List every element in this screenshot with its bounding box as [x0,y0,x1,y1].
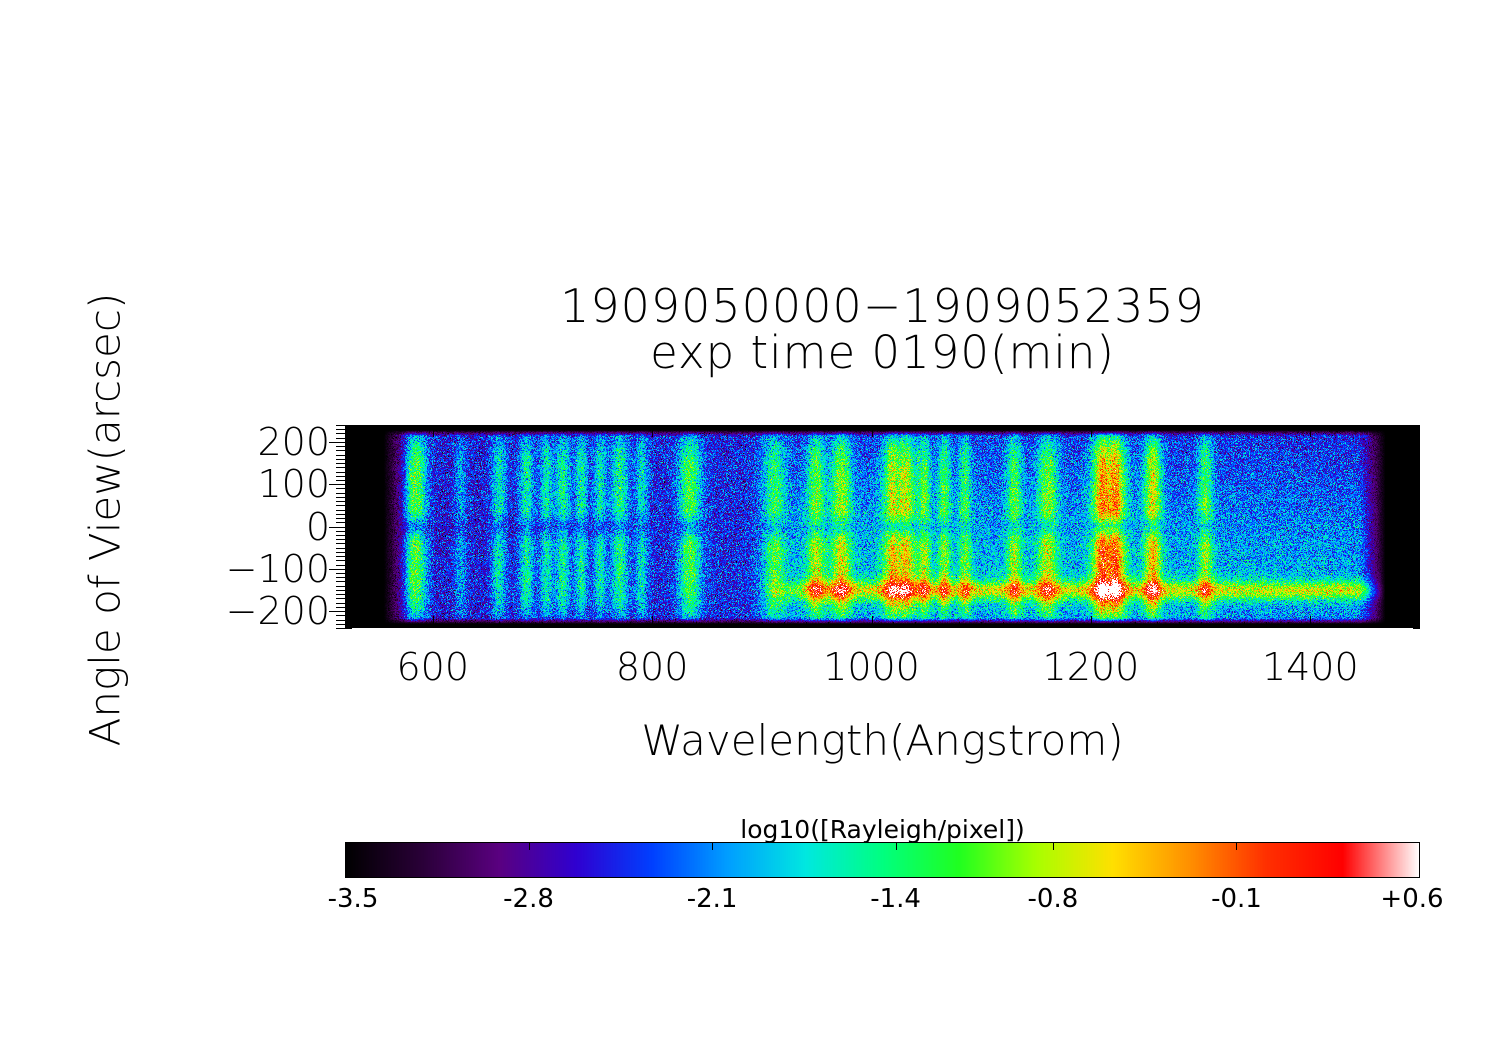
y-minor-tick-right [1413,501,1420,502]
y-minor-tick [345,514,352,515]
y-minor-tick-right [1413,590,1420,591]
y-minor-tick-right [1413,514,1420,515]
y-minor-tick [345,556,352,557]
x-tick-label: 800 [616,648,689,686]
x-axis-title: Wavelength(Angstrom) [345,716,1420,765]
x-minor-tick-top [564,425,565,431]
x-minor-tick-top [784,425,785,431]
y-outer-tick [336,556,345,557]
x-minor-tick [1025,622,1026,628]
y-outer-tick [336,552,345,553]
x-minor-tick [1244,622,1245,628]
y-outer-tick [336,598,345,599]
y-outer-tick [336,607,345,608]
y-minor-tick [345,598,352,599]
colorbar-gradient [345,842,1420,878]
x-minor-tick [1113,622,1114,628]
y-minor-tick [345,573,352,574]
x-major-tick [1310,616,1311,628]
x-axis-tick-labels: 600800100012001400 [345,648,1420,708]
colorbar-tick-label: +0.6 [1380,886,1443,912]
y-outer-tick [336,438,345,439]
y-minor-tick-right [1413,476,1420,477]
y-minor-tick [345,438,352,439]
x-minor-tick [608,622,609,628]
x-major-tick [1091,616,1092,628]
y-tick-label: −100 [226,550,330,588]
y-minor-tick [345,615,352,616]
y-minor-tick-right [1413,535,1420,536]
title-line-1: 1909050000−1909052359 [345,283,1420,330]
x-minor-tick [455,622,456,628]
y-outer-tick [336,501,345,502]
y-minor-tick [345,488,352,489]
y-major-tick [345,569,359,570]
colorbar [345,842,1420,878]
y-minor-tick [345,472,352,473]
x-minor-tick [806,622,807,628]
y-major-tick-right [1406,484,1420,485]
y-minor-tick-right [1413,467,1420,468]
y-minor-tick-right [1413,543,1420,544]
y-major-tick-right [1406,569,1420,570]
y-minor-tick-right [1413,628,1420,629]
y-outer-tick [336,548,345,549]
y-outer-tick [336,497,345,498]
y-major-tick-right [1406,527,1420,528]
spectrogram-image [345,425,1420,628]
y-minor-tick-right [1413,598,1420,599]
y-outer-tick [336,581,345,582]
y-outer-tick [336,615,345,616]
colorbar-tick [712,842,713,850]
x-tick-label: 1000 [823,648,920,686]
x-tick-label: 1400 [1262,648,1359,686]
x-minor-tick [740,622,741,628]
y-minor-tick-right [1413,463,1420,464]
x-minor-tick-top [1266,425,1267,431]
x-minor-tick [499,622,500,628]
y-minor-tick-right [1413,459,1420,460]
y-outer-tick [336,514,345,515]
y-minor-tick [345,620,352,621]
y-outer-tick [336,573,345,574]
y-outer-tick [336,450,345,451]
x-minor-tick [850,622,851,628]
y-minor-tick-right [1413,615,1420,616]
x-minor-tick-top [542,425,543,431]
y-minor-tick [345,535,352,536]
y-tick-label: 100 [257,465,330,503]
x-minor-tick [586,622,587,628]
y-major-tick [345,484,359,485]
y-minor-tick-right [1413,607,1420,608]
y-minor-tick [345,505,352,506]
x-minor-tick-top [718,425,719,431]
y-outer-tick [336,594,345,595]
colorbar-tick-label: -0.8 [1028,886,1079,912]
y-minor-tick-right [1413,455,1420,456]
x-major-tick [652,616,653,628]
y-tick-label: 200 [257,423,330,461]
y-outer-tick [336,560,345,561]
y-outer-tick [336,518,345,519]
y-outer-tick [336,543,345,544]
plot-title: 1909050000−1909052359 exp time 0190(min) [345,283,1420,376]
x-minor-tick-top [608,425,609,431]
colorbar-tick [896,842,897,850]
title-line-2: exp time 0190(min) [345,330,1420,376]
y-outer-tick [336,586,345,587]
x-minor-tick-top [1179,425,1180,431]
x-minor-tick-top [1047,425,1048,431]
y-minor-tick-right [1413,510,1420,511]
x-major-tick-top [1091,425,1092,437]
x-minor-tick [784,622,785,628]
x-minor-tick [1201,622,1202,628]
x-minor-tick [696,622,697,628]
y-minor-tick-right [1413,429,1420,430]
x-major-tick [433,616,434,628]
y-outer-tick [336,446,345,447]
x-minor-tick-top [1223,425,1224,431]
y-minor-tick [345,586,352,587]
colorbar-tick-label: -3.5 [328,886,379,912]
y-minor-tick [345,607,352,608]
y-minor-tick-right [1413,594,1420,595]
y-minor-tick-right [1413,493,1420,494]
x-minor-tick-top [1003,425,1004,431]
y-outer-tick [329,527,345,528]
y-outer-tick [329,442,345,443]
x-minor-tick-top [1113,425,1114,431]
y-minor-tick [345,518,352,519]
y-outer-tick [336,577,345,578]
colorbar-tick-label: -2.1 [687,886,738,912]
y-outer-tick [336,459,345,460]
y-outer-tick [336,620,345,621]
x-minor-tick [937,622,938,628]
y-minor-tick [345,497,352,498]
y-minor-tick-right [1413,425,1420,426]
x-minor-tick [630,622,631,628]
y-minor-tick [345,539,352,540]
y-minor-tick [345,531,352,532]
y-outer-tick [336,476,345,477]
y-minor-tick [345,446,352,447]
x-minor-tick-top [1069,425,1070,431]
y-minor-tick [345,476,352,477]
x-minor-tick [762,622,763,628]
y-outer-tick [336,628,345,629]
y-minor-tick-right [1413,450,1420,451]
x-minor-tick-top [806,425,807,431]
y-minor-tick-right [1413,505,1420,506]
x-minor-tick-top [1025,425,1026,431]
y-minor-tick-right [1413,522,1420,523]
y-outer-tick [336,472,345,473]
y-outer-tick [336,531,345,532]
y-outer-tick [336,467,345,468]
x-minor-tick [1288,622,1289,628]
y-minor-tick-right [1413,556,1420,557]
y-outer-tick [329,569,345,570]
y-outer-tick [336,603,345,604]
y-axis-outer-ticks [329,425,345,628]
y-minor-tick [345,480,352,481]
y-major-tick [345,527,359,528]
y-outer-tick [336,510,345,511]
colorbar-tick [1236,842,1237,850]
x-minor-tick [564,622,565,628]
y-minor-tick [345,459,352,460]
y-outer-tick [336,590,345,591]
y-outer-tick [336,480,345,481]
y-minor-tick [345,603,352,604]
y-outer-tick [336,463,345,464]
x-minor-tick-top [959,425,960,431]
y-minor-tick [345,548,352,549]
x-minor-tick [1179,622,1180,628]
y-outer-tick [336,429,345,430]
x-minor-tick-top [630,425,631,431]
x-major-tick-top [652,425,653,437]
x-minor-tick [959,622,960,628]
y-minor-tick [345,455,352,456]
y-minor-tick [345,594,352,595]
x-minor-tick-top [586,425,587,431]
y-major-tick-right [1406,611,1420,612]
y-major-tick [345,611,359,612]
y-minor-tick-right [1413,603,1420,604]
y-minor-tick [345,624,352,625]
x-minor-tick [915,622,916,628]
y-minor-tick-right [1413,488,1420,489]
y-minor-tick-right [1413,472,1420,473]
x-minor-tick [1135,622,1136,628]
x-tick-label: 1200 [1043,648,1140,686]
x-minor-tick [1157,622,1158,628]
y-outer-tick [336,535,345,536]
y-axis-title: Angle of View(arcsec) [81,260,130,780]
x-minor-tick-top [499,425,500,431]
y-minor-tick-right [1413,624,1420,625]
y-minor-tick [345,429,352,430]
y-minor-tick [345,560,352,561]
x-minor-tick-top [674,425,675,431]
y-minor-tick-right [1413,531,1420,532]
y-major-tick [345,442,359,443]
x-minor-tick-top [828,425,829,431]
y-minor-tick-right [1413,480,1420,481]
y-tick-label: −200 [226,592,330,630]
y-outer-tick [336,565,345,566]
y-outer-tick [336,522,345,523]
x-minor-tick-top [696,425,697,431]
x-major-tick-top [433,425,434,437]
y-minor-tick-right [1413,433,1420,434]
x-major-tick [872,616,873,628]
y-outer-tick [336,624,345,625]
y-minor-tick-right [1413,548,1420,549]
y-minor-tick [345,552,352,553]
x-minor-tick-top [937,425,938,431]
y-axis-tick-labels: 2001000−100−200 [150,425,330,628]
y-minor-tick-right [1413,586,1420,587]
y-minor-tick [345,590,352,591]
colorbar-tick-labels: -3.5-2.8-2.1-1.4-0.8-0.1+0.6 [345,886,1420,926]
x-minor-tick [1223,622,1224,628]
x-major-tick-top [872,425,873,437]
y-minor-tick [345,628,352,629]
y-minor-tick-right [1413,573,1420,574]
y-minor-tick [345,581,352,582]
colorbar-title: log10([Rayleigh/pixel]) [345,815,1420,844]
y-tick-label: 0 [306,508,330,546]
x-minor-tick [542,622,543,628]
y-minor-tick-right [1413,560,1420,561]
x-minor-tick-top [521,425,522,431]
y-minor-tick-right [1413,539,1420,540]
colorbar-tick-label: -1.4 [870,886,921,912]
x-minor-tick [477,622,478,628]
y-minor-tick-right [1413,518,1420,519]
x-minor-tick [674,622,675,628]
x-minor-tick-top [1288,425,1289,431]
y-minor-tick-right [1413,565,1420,566]
spectrogram-plot [345,425,1420,628]
y-minor-tick-right [1413,552,1420,553]
x-minor-tick [828,622,829,628]
y-outer-tick [336,433,345,434]
y-minor-tick [345,433,352,434]
y-minor-tick [345,467,352,468]
x-minor-tick-top [455,425,456,431]
x-minor-tick [893,622,894,628]
x-minor-tick-top [1135,425,1136,431]
y-major-tick-right [1406,442,1420,443]
x-minor-tick-top [893,425,894,431]
x-minor-tick [1047,622,1048,628]
y-outer-tick [329,484,345,485]
x-minor-tick [718,622,719,628]
y-minor-tick [345,522,352,523]
y-minor-tick [345,463,352,464]
y-outer-tick [336,493,345,494]
y-minor-tick-right [1413,581,1420,582]
colorbar-tick [529,842,530,850]
y-minor-tick [345,510,352,511]
x-minor-tick-top [762,425,763,431]
y-minor-tick [345,565,352,566]
y-minor-tick [345,577,352,578]
x-minor-tick [521,622,522,628]
y-minor-tick [345,543,352,544]
y-minor-tick-right [1413,438,1420,439]
x-minor-tick-top [477,425,478,431]
colorbar-tick-label: -0.1 [1211,886,1262,912]
figure-canvas: 1909050000−1909052359 exp time 0190(min)… [0,0,1497,1058]
x-tick-label: 600 [396,648,469,686]
y-minor-tick [345,425,352,426]
y-minor-tick [345,493,352,494]
x-minor-tick-top [915,425,916,431]
x-minor-tick [981,622,982,628]
y-minor-tick-right [1413,620,1420,621]
x-minor-tick-top [1157,425,1158,431]
y-outer-tick [336,425,345,426]
y-outer-tick [336,539,345,540]
x-minor-tick [1003,622,1004,628]
x-minor-tick-top [740,425,741,431]
colorbar-tick [1053,842,1054,850]
y-outer-tick [336,505,345,506]
y-minor-tick-right [1413,446,1420,447]
x-minor-tick-top [1201,425,1202,431]
x-minor-tick-top [850,425,851,431]
x-minor-tick-top [1244,425,1245,431]
y-minor-tick [345,501,352,502]
x-minor-tick [1266,622,1267,628]
y-minor-tick-right [1413,577,1420,578]
y-minor-tick [345,450,352,451]
y-minor-tick-right [1413,497,1420,498]
y-outer-tick [336,455,345,456]
y-outer-tick [336,488,345,489]
y-outer-tick [329,611,345,612]
x-minor-tick-top [981,425,982,431]
colorbar-tick-label: -2.8 [503,886,554,912]
x-minor-tick [1069,622,1070,628]
x-major-tick-top [1310,425,1311,437]
